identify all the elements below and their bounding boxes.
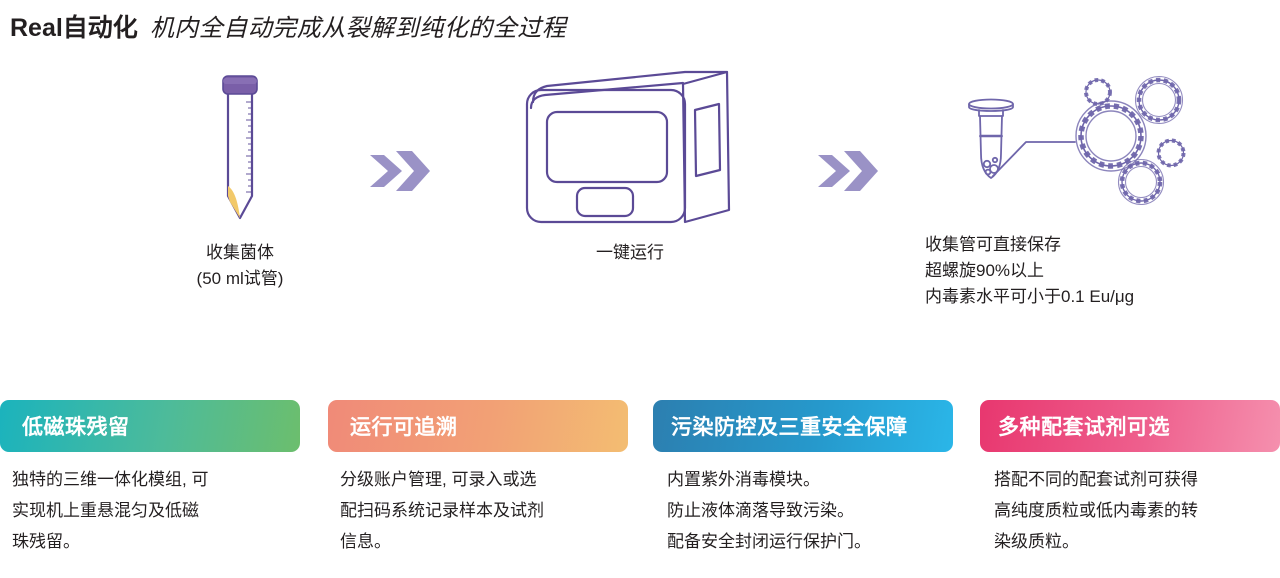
feature-card-4-bar: 多种配套试剂可选 [980, 400, 1280, 452]
flow-step-3-caption-line-1: 收集管可直接保存 [925, 232, 1225, 258]
flow-step-3-caption-line-2: 超螺旋90%以上 [925, 258, 1225, 284]
microtube-plasmid-dna-icon [925, 70, 1225, 240]
feature-card-3-body-line-1: 内置紫外消毒模块。 [667, 464, 959, 495]
feature-card-3-body-line-3: 配备安全封闭运行保护门。 [667, 526, 959, 557]
page-title-italic: 机内全自动完成从裂解到纯化的全过程 [150, 8, 567, 43]
feature-card-3-bar: 污染防控及三重安全保障 [653, 400, 953, 452]
feature-card-contamination-control: 污染防控及三重安全保障 内置紫外消毒模块。 防止液体滴落导致污染。 配备安全封闭… [653, 400, 953, 557]
feature-card-2-title: 运行可追溯 [350, 411, 458, 441]
flow-step-3-caption-line-3: 内毒素水平可小于0.1 Eu/μg [925, 284, 1225, 310]
feature-card-2-bar: 运行可追溯 [328, 400, 628, 452]
feature-card-4-title: 多种配套试剂可选 [998, 411, 1170, 441]
flow-step-1-caption-line-2: (50 ml试管) [150, 266, 330, 292]
feature-card-reagent-options: 多种配套试剂可选 搭配不同的配套试剂可获得 高纯度质粒或低内毒素的转 染级质粒。 [980, 400, 1280, 557]
feature-card-2-body-line-1: 分级账户管理, 可录入或选 [340, 464, 632, 495]
feature-card-2-body-line-3: 信息。 [340, 526, 632, 557]
feature-card-1-title: 低磁珠残留 [22, 411, 130, 441]
double-chevron-right-icon-1 [368, 145, 432, 197]
page-title-strong: Real自动化 [10, 8, 138, 44]
feature-card-low-bead-residue: 低磁珠残留 独特的三维一体化模组, 可 实现机上重悬混匀及低磁 珠残留。 [0, 400, 300, 557]
conical-tube-50ml-icon [150, 70, 330, 240]
feature-card-4-body: 搭配不同的配套试剂可获得 高纯度质粒或低内毒素的转 染级质粒。 [980, 464, 1280, 557]
process-flow: 收集菌体 (50 ml试管) [0, 70, 1280, 360]
flow-step-1-caption: 收集菌体 (50 ml试管) [150, 240, 330, 292]
flow-step-2-caption: 一键运行 [490, 240, 770, 266]
page-title: Real自动化 机内全自动完成从裂解到纯化的全过程 [10, 8, 566, 44]
feature-card-1-body-line-3: 珠残留。 [12, 526, 304, 557]
flow-step-one-key-run: 一键运行 [490, 70, 770, 266]
flow-step-collect-cells: 收集菌体 (50 ml试管) [150, 70, 330, 292]
feature-card-4-body-line-2: 高纯度质粒或低内毒素的转 [994, 495, 1280, 526]
flow-step-3-caption: 收集管可直接保存 超螺旋90%以上 内毒素水平可小于0.1 Eu/μg [925, 232, 1225, 310]
flow-step-1-caption-line-1: 收集菌体 [150, 240, 330, 266]
instrument-machine-icon [490, 70, 770, 240]
feature-card-1-body-line-2: 实现机上重悬混匀及低磁 [12, 495, 304, 526]
feature-card-1-body: 独特的三维一体化模组, 可 实现机上重悬混匀及低磁 珠残留。 [0, 464, 304, 557]
feature-card-4-body-line-1: 搭配不同的配套试剂可获得 [994, 464, 1280, 495]
feature-card-traceable-run: 运行可追溯 分级账户管理, 可录入或选 配扫码系统记录样本及试剂 信息。 [328, 400, 628, 557]
feature-card-1-bar: 低磁珠残留 [0, 400, 300, 452]
double-chevron-right-icon-2 [816, 145, 880, 197]
feature-card-3-body-line-2: 防止液体滴落导致污染。 [667, 495, 959, 526]
feature-card-2-body: 分级账户管理, 可录入或选 配扫码系统记录样本及试剂 信息。 [328, 464, 632, 557]
feature-card-2-body-line-2: 配扫码系统记录样本及试剂 [340, 495, 632, 526]
feature-card-3-title: 污染防控及三重安全保障 [671, 411, 908, 441]
flow-step-2-caption-line-1: 一键运行 [490, 240, 770, 266]
feature-card-1-body-line-1: 独特的三维一体化模组, 可 [12, 464, 304, 495]
feature-card-4-body-line-3: 染级质粒。 [994, 526, 1280, 557]
flow-step-collection-tube: 收集管可直接保存 超螺旋90%以上 内毒素水平可小于0.1 Eu/μg [925, 70, 1225, 310]
feature-card-3-body: 内置紫外消毒模块。 防止液体滴落导致污染。 配备安全封闭运行保护门。 [653, 464, 959, 557]
feature-card-list: 低磁珠残留 独特的三维一体化模组, 可 实现机上重悬混匀及低磁 珠残留。 运行可… [0, 400, 1280, 578]
